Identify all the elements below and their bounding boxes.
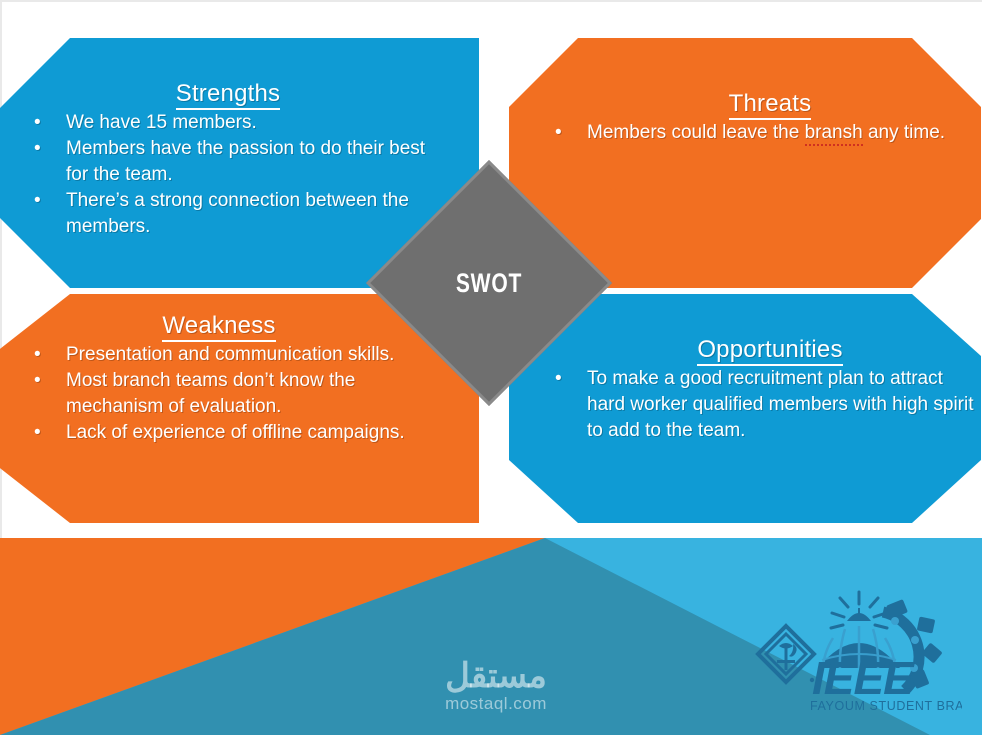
ieee-logo-graphic: IEEE FAYOUM STUDENT BRANCH (752, 588, 962, 716)
bullet-icon: • (34, 342, 41, 368)
quadrant-strengths-title: Strengths (24, 80, 444, 108)
list-item: • There’s a strong connection between th… (24, 188, 444, 240)
diamond-label: SWOT (421, 196, 557, 370)
quadrant-threats-title-text: Threats (729, 90, 812, 120)
quadrant-weakness-title: Weakness (24, 312, 444, 340)
bullet-icon: • (34, 188, 41, 214)
list-item: • To make a good recruitment plan to att… (545, 366, 982, 444)
bullet-icon: • (34, 136, 41, 162)
list-item: • Lack of experience of offline campaign… (24, 420, 444, 446)
ieee-logo: IEEE FAYOUM STUDENT BRANCH (752, 588, 962, 716)
list-item-text: Most branch teams don’t know the mechani… (66, 370, 355, 417)
quadrant-opportunities-content: Opportunities • To make a good recruitme… (545, 336, 982, 444)
list-item-text: Lack of experience of offline campaigns. (66, 422, 405, 443)
quadrant-opportunities-list: • To make a good recruitment plan to att… (545, 366, 982, 444)
list-item: • We have 15 members. (24, 110, 444, 136)
quadrant-opportunities-title-text: Opportunities (697, 336, 842, 366)
quadrant-strengths-content: Strengths • We have 15 members. • Member… (24, 80, 444, 240)
center-diamond[interactable]: SWOT (402, 196, 576, 370)
bullet-icon: • (34, 420, 41, 446)
quadrant-threats-list: • Members could leave the bransh any tim… (545, 120, 975, 146)
misspelled-word: bransh (805, 122, 863, 146)
ieee-diamond-emblem (758, 626, 814, 682)
quadrant-opportunities-title: Opportunities (545, 336, 982, 364)
ieee-wordmark: IEEE (812, 652, 915, 704)
list-item-text: There’s a strong connection between the … (66, 190, 409, 237)
list-item: • Most branch teams don’t know the mecha… (24, 368, 444, 420)
quadrant-weakness-list: • Presentation and communication skills.… (24, 342, 444, 446)
text-after: any time. (863, 122, 945, 143)
list-item: • Members could leave the bransh any tim… (545, 120, 975, 146)
list-item: • Presentation and communication skills. (24, 342, 444, 368)
bullet-icon: • (555, 120, 562, 146)
quadrant-strengths-title-text: Strengths (176, 80, 281, 110)
ieee-subtitle: FAYOUM STUDENT BRANCH (810, 699, 962, 713)
list-item-text: To make a good recruitment plan to attra… (587, 368, 974, 441)
slide-top-border (0, 0, 982, 2)
list-item-text: Members could leave the bransh any time. (587, 122, 945, 146)
quadrant-opportunities[interactable]: Opportunities • To make a good recruitme… (509, 294, 982, 523)
list-item-text: We have 15 members. (66, 112, 257, 133)
list-item-text: Presentation and communication skills. (66, 344, 394, 365)
list-item: • Members have the passion to do their b… (24, 136, 444, 188)
quadrant-strengths-list: • We have 15 members. • Members have the… (24, 110, 444, 240)
bullet-icon: • (34, 368, 41, 394)
quadrant-threats-content: Threats • Members could leave the bransh… (545, 90, 975, 146)
quadrant-weakness-content: Weakness • Presentation and communicatio… (24, 312, 444, 446)
quadrant-threats-title: Threats (545, 90, 975, 118)
quadrant-weakness-title-text: Weakness (162, 312, 275, 342)
text-before: Members could leave the (587, 122, 805, 143)
swot-slide: Strengths • We have 15 members. • Member… (0, 0, 982, 735)
bullet-icon: • (34, 110, 41, 136)
list-item-text: Members have the passion to do their bes… (66, 138, 425, 185)
